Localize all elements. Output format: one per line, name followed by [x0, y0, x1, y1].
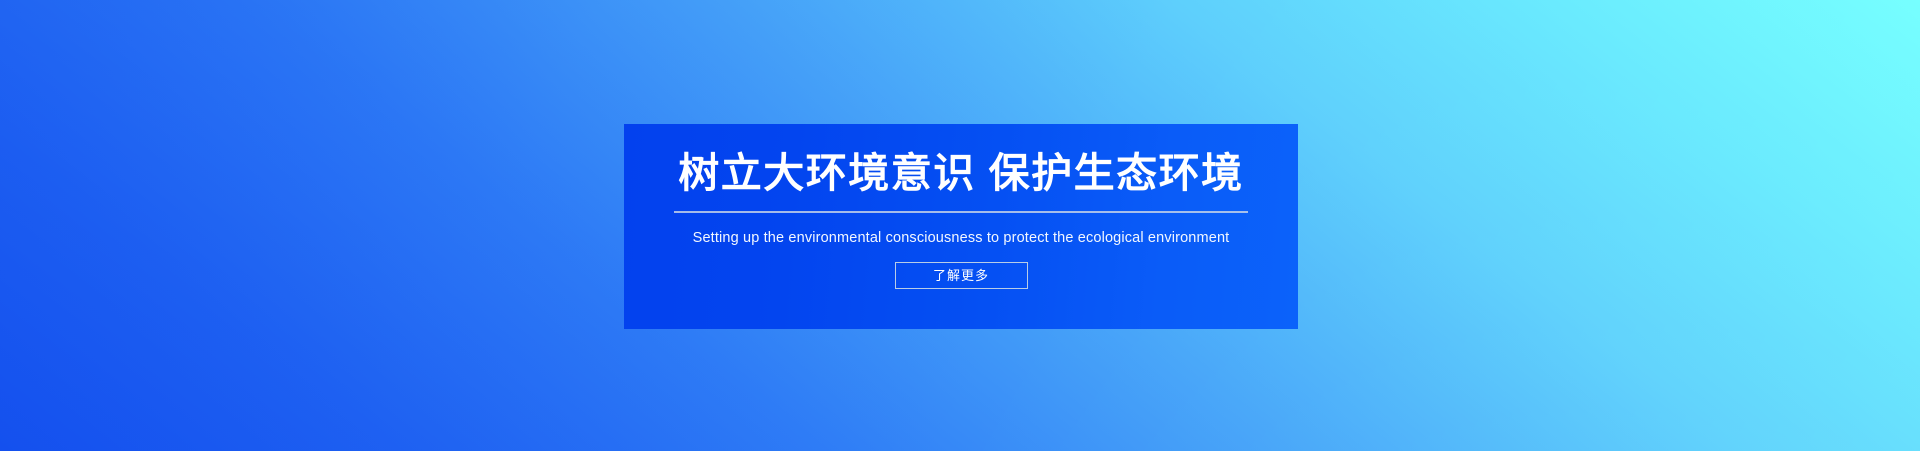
hero-banner: 树立大环境意识 保护生态环境 Setting up the environmen…	[0, 0, 1920, 451]
learn-more-button[interactable]: 了解更多	[895, 262, 1028, 289]
page-title: 树立大环境意识 保护生态环境	[678, 151, 1243, 197]
hero-subtitle: Setting up the environmental consciousne…	[693, 213, 1230, 247]
title-divider	[674, 211, 1248, 213]
hero-card: 树立大环境意识 保护生态环境 Setting up the environmen…	[624, 124, 1298, 329]
